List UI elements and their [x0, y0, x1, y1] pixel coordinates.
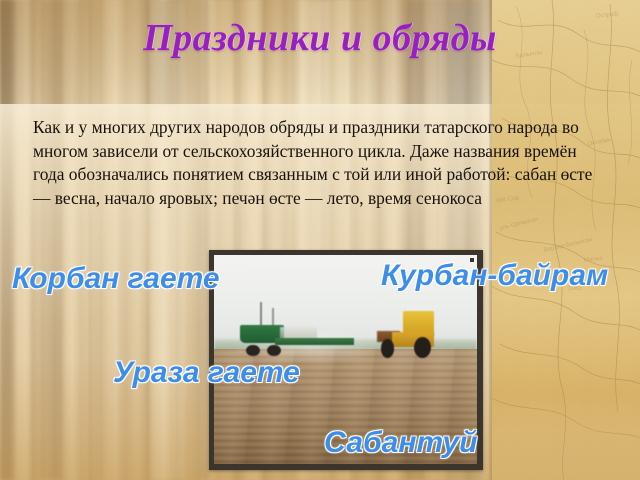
slide-body-text: Как и у многих других народов обряды и п… [33, 116, 611, 210]
slide-title: Праздники и обряды [0, 16, 640, 60]
heading-kurban-bayram: Курбан-байрам [381, 259, 608, 293]
svg-text:Верхне-Балычлы: Верхне-Балычлы [543, 236, 594, 254]
svg-text:уль-Орланган: уль-Орланган [499, 216, 539, 232]
seeder-mast-icon [260, 302, 262, 327]
heading-korban-gaete: Корбан гаете [12, 262, 220, 296]
photo-yellow-tractor [377, 311, 435, 353]
heading-sabantuy: Сабантуй [324, 426, 477, 460]
presentation-slide: Балычлы Октябрь оре Сов уль-Орланган Вер… [0, 0, 640, 480]
seeder-tool-bar [275, 338, 354, 345]
heading-uraza-gaete: Ураза гаете [113, 356, 300, 390]
photo-green-seeder [235, 318, 359, 351]
